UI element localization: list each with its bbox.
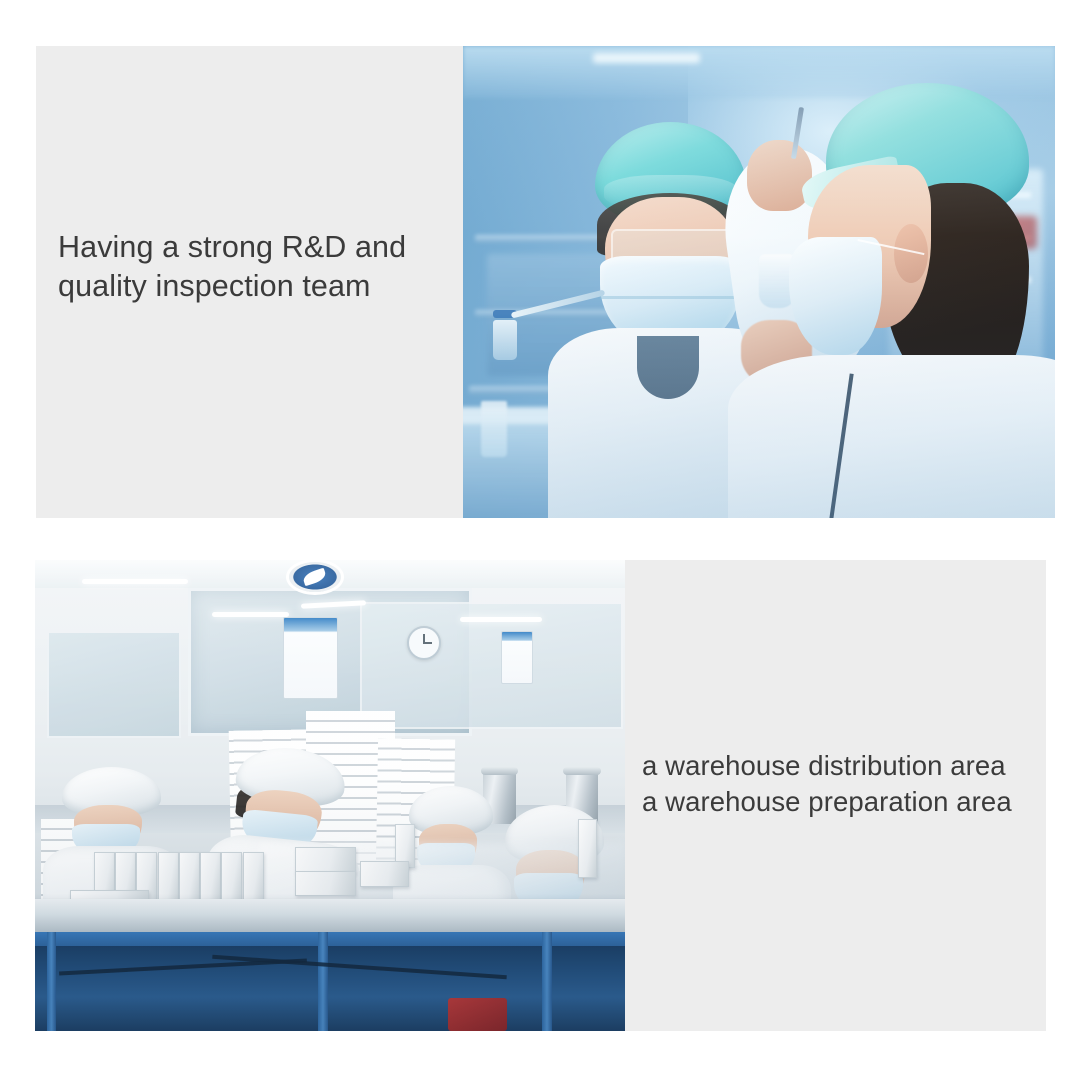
carton-box bbox=[158, 852, 179, 906]
poster-canvas: Having a strong R&D and quality inspecti… bbox=[0, 0, 1080, 1080]
carton-box bbox=[179, 852, 200, 906]
carton-box bbox=[200, 852, 221, 906]
top-caption-text: Having a strong R&D and quality inspecti… bbox=[58, 228, 458, 306]
wall-clock-icon bbox=[407, 626, 441, 660]
carton-box bbox=[578, 819, 598, 878]
company-logo-icon bbox=[289, 562, 341, 592]
warehouse-floor bbox=[35, 946, 625, 1031]
top-section: Having a strong R&D and quality inspecti… bbox=[36, 46, 1055, 518]
red-cart bbox=[448, 998, 507, 1031]
bottom-section: a warehouse distribution area a warehous… bbox=[35, 560, 1046, 1031]
top-caption-panel: Having a strong R&D and quality inspecti… bbox=[36, 46, 463, 518]
table-leg bbox=[542, 932, 551, 1031]
ceiling-light-icon bbox=[82, 579, 188, 584]
warehouse-packing-photo bbox=[35, 560, 625, 1031]
wall-window-left bbox=[47, 631, 181, 739]
carton-box bbox=[360, 861, 409, 887]
ceiling-light-icon bbox=[593, 53, 700, 63]
ceiling-light-icon bbox=[460, 617, 543, 622]
lab-beaker bbox=[481, 401, 507, 457]
carton-box bbox=[295, 871, 356, 897]
bottom-caption-panel: a warehouse distribution area a warehous… bbox=[625, 560, 1046, 1031]
carton-box bbox=[243, 852, 264, 906]
wall-poster bbox=[501, 631, 533, 685]
lab-quality-inspection-photo bbox=[463, 46, 1055, 518]
table-leg bbox=[318, 932, 327, 1031]
carton-box bbox=[221, 852, 242, 906]
coat-collar bbox=[637, 336, 700, 399]
face-mask bbox=[789, 237, 881, 355]
carton-box bbox=[295, 847, 356, 873]
ceiling-light-icon bbox=[212, 612, 289, 617]
white-lab-coat bbox=[728, 355, 1055, 518]
sample-vial bbox=[493, 320, 517, 360]
table-leg bbox=[47, 932, 56, 1031]
wall-poster bbox=[283, 617, 338, 699]
blue-table-frame bbox=[35, 932, 625, 946]
lab-scene bbox=[463, 46, 1055, 518]
bottom-caption-text: a warehouse distribution area a warehous… bbox=[642, 748, 1052, 820]
lab-technician-profile bbox=[771, 74, 1055, 518]
warehouse-scene bbox=[35, 560, 625, 1031]
